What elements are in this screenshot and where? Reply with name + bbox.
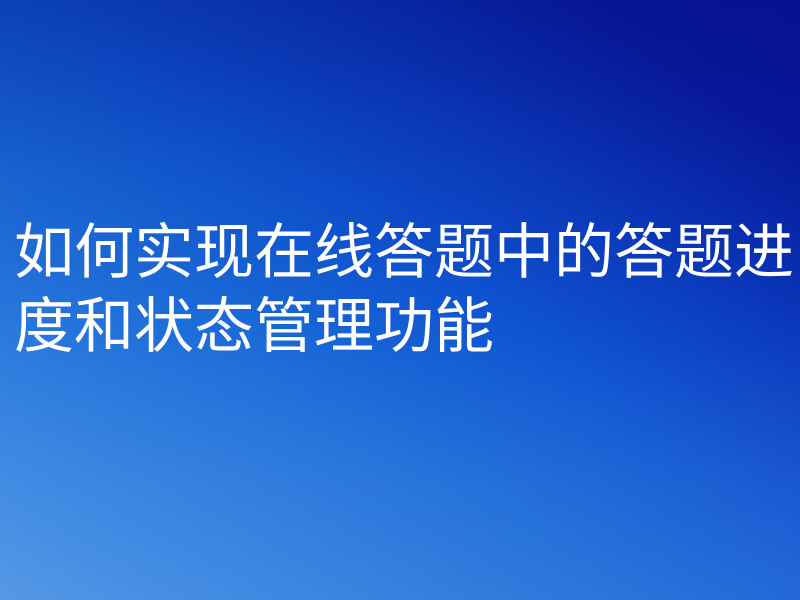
- page-title-line-2: 度和状态管理功能: [14, 290, 800, 364]
- title-card: 如何实现在线答题中的答题进 度和状态管理功能: [0, 0, 800, 600]
- page-title-line-1: 如何实现在线答题中的答题进: [14, 216, 800, 290]
- page-title: 如何实现在线答题中的答题进 度和状态管理功能: [14, 216, 800, 364]
